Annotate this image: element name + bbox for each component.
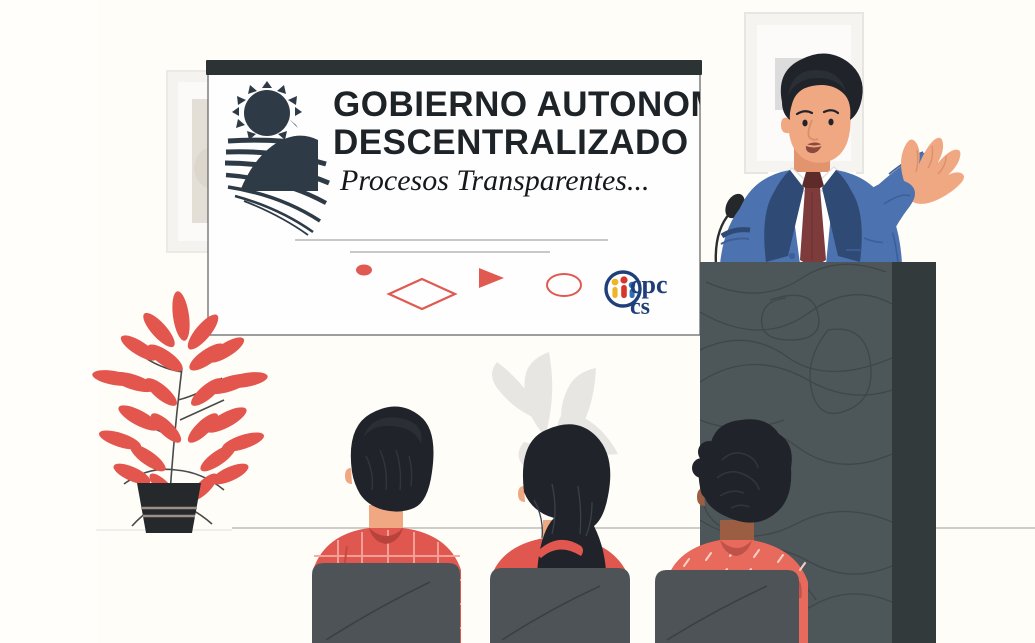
screen-tagline: Procesos Transparentes... [339, 164, 649, 197]
projection-screen: GOBIERNO AUTONOMO DESCENTRALIZADO Proces… [206, 60, 748, 335]
screen-title-line1: GOBIERNO AUTONOMO [333, 85, 748, 124]
wall-left-tint [0, 0, 98, 643]
presentation-illustration: GOBIERNO AUTONOMO DESCENTRALIZADO Proces… [0, 0, 1035, 643]
audience1-chair [312, 563, 460, 643]
sun-disc-icon [244, 90, 290, 136]
audience3-chair [655, 570, 799, 643]
audience2-chair [490, 568, 630, 643]
figure-yellow [612, 279, 619, 286]
shape-dot [356, 265, 372, 276]
speaker-tie [800, 172, 826, 268]
podium-side [892, 262, 936, 643]
screen-valance [206, 60, 702, 75]
cpccs-text-bottom: cs [630, 294, 650, 320]
figure-red [620, 276, 627, 283]
screen-title-line2: DESCENTRALIZADO [333, 123, 689, 162]
plant-pot [137, 483, 201, 533]
speaker-jacket-button [789, 253, 795, 259]
